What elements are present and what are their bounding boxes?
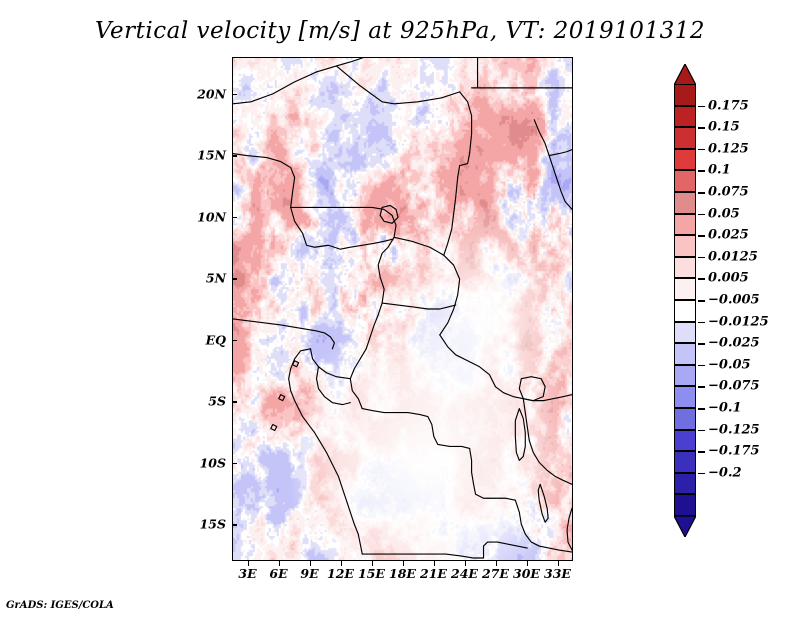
x-tick-label: 3E (238, 566, 256, 581)
y-tick-label: 10S (200, 455, 226, 470)
colorbar-label: 0.075 (708, 185, 749, 200)
x-tick-mark (341, 561, 343, 566)
colorbar-band[interactable] (674, 386, 696, 408)
colorbar-label: −0.125 (708, 422, 760, 437)
y-tick-mark (232, 278, 237, 280)
x-tick-label: 24E (451, 566, 478, 581)
colorbar-tick (698, 235, 705, 237)
colorbar-band[interactable] (674, 343, 696, 365)
colorbar-tick (698, 214, 705, 216)
colorbar-band[interactable] (674, 149, 696, 171)
colorbar-band[interactable] (674, 84, 696, 106)
x-tick-label: 18E (389, 566, 416, 581)
colorbar-label: −0.175 (708, 444, 760, 459)
colorbar-band[interactable] (674, 300, 696, 322)
x-tick-mark (496, 561, 498, 566)
colorbar-label: −0.025 (708, 336, 760, 351)
grads-attribution: GrADS: IGES/COLA (6, 600, 114, 611)
y-tick-label: 15N (197, 148, 226, 163)
colorbar-tick (698, 127, 705, 129)
y-tick-label: 10N (197, 209, 226, 224)
colorbar-band[interactable] (674, 473, 696, 495)
colorbar-label: −0.2 (708, 465, 742, 480)
colorbar-tick (698, 170, 705, 172)
y-tick-mark (232, 217, 237, 219)
colorbar-label: −0.1 (708, 401, 742, 416)
colorbar-top-arrow (674, 64, 696, 84)
y-tick-mark (232, 463, 237, 465)
colorbar-tick (698, 278, 705, 280)
x-tick-label: 12E (327, 566, 354, 581)
colorbar[interactable]: 0.1750.150.1250.10.0750.050.0250.01250.0… (674, 62, 794, 557)
y-tick-mark (232, 401, 237, 403)
colorbar-band[interactable] (674, 214, 696, 236)
colorbar-label: 0.025 (708, 228, 749, 243)
page-title: Vertical velocity [m/s] at 925hPa, VT: 2… (0, 18, 800, 44)
x-axis-labels: 3E6E9E12E15E18E21E24E27E30E33E (0, 566, 800, 586)
colorbar-band[interactable] (674, 235, 696, 257)
x-tick-mark (248, 561, 250, 566)
colorbar-tick (698, 149, 705, 151)
colorbar-tick (698, 451, 705, 453)
grads-plot-window: Vertical velocity [m/s] at 925hPa, VT: 2… (0, 0, 800, 618)
x-tick-label: 30E (513, 566, 540, 581)
colorbar-tick (698, 408, 705, 410)
colorbar-band[interactable] (674, 192, 696, 214)
y-tick-mark (232, 155, 237, 157)
colorbar-label: 0.1 (708, 163, 731, 178)
x-tick-mark (465, 561, 467, 566)
colorbar-tick (698, 322, 705, 324)
y-axis-labels: 20N15N10N5NEQ5S10S15S (186, 57, 226, 561)
y-tick-label: 5N (206, 271, 226, 286)
x-tick-mark (403, 561, 405, 566)
colorbar-tick (698, 386, 705, 388)
colorbar-band[interactable] (674, 451, 696, 473)
x-tick-label: 6E (269, 566, 287, 581)
colorbar-label: 0.15 (708, 120, 740, 135)
colorbar-tick (698, 365, 705, 367)
x-tick-mark (434, 561, 436, 566)
y-tick-label: 5S (208, 394, 226, 409)
colorbar-label: 0.175 (708, 98, 749, 113)
colorbar-label: −0.075 (708, 379, 760, 394)
country-borders-overlay (233, 58, 572, 560)
colorbar-label: −0.05 (708, 357, 751, 372)
colorbar-label: −0.0125 (708, 314, 769, 329)
colorbar-band[interactable] (674, 257, 696, 279)
colorbar-band[interactable] (674, 494, 696, 516)
colorbar-band[interactable] (674, 106, 696, 128)
colorbar-bottom-arrow (674, 516, 696, 536)
x-tick-mark (372, 561, 374, 566)
y-tick-mark (232, 524, 237, 526)
colorbar-tick (698, 300, 705, 302)
colorbar-band[interactable] (674, 365, 696, 387)
x-tick-mark (279, 561, 281, 566)
colorbar-tick (698, 192, 705, 194)
colorbar-tick (698, 257, 705, 259)
colorbar-band[interactable] (674, 408, 696, 430)
x-tick-label: 15E (358, 566, 385, 581)
y-tick-label: 20N (197, 86, 226, 101)
colorbar-band[interactable] (674, 170, 696, 192)
colorbar-tick (698, 343, 705, 345)
colorbar-band[interactable] (674, 322, 696, 344)
colorbar-tick (698, 473, 705, 475)
x-tick-mark (527, 561, 529, 566)
map-plot-area[interactable] (232, 57, 573, 561)
x-tick-label: 33E (544, 566, 571, 581)
colorbar-band[interactable] (674, 430, 696, 452)
colorbar-label: 0.05 (708, 206, 740, 221)
y-tick-mark (232, 94, 237, 96)
colorbar-tick (698, 106, 705, 108)
x-tick-mark (310, 561, 312, 566)
colorbar-label: −0.005 (708, 293, 760, 308)
x-tick-label: 27E (482, 566, 509, 581)
colorbar-band[interactable] (674, 127, 696, 149)
colorbar-tick (698, 430, 705, 432)
colorbar-label: 0.125 (708, 141, 749, 156)
colorbar-label: 0.0125 (708, 249, 758, 264)
x-tick-mark (558, 561, 560, 566)
y-tick-label: EQ (206, 332, 226, 347)
colorbar-label: 0.005 (708, 271, 749, 286)
y-tick-label: 15S (200, 517, 226, 532)
y-tick-mark (232, 340, 237, 342)
x-tick-label: 21E (420, 566, 447, 581)
x-tick-label: 9E (300, 566, 318, 581)
colorbar-band[interactable] (674, 278, 696, 300)
